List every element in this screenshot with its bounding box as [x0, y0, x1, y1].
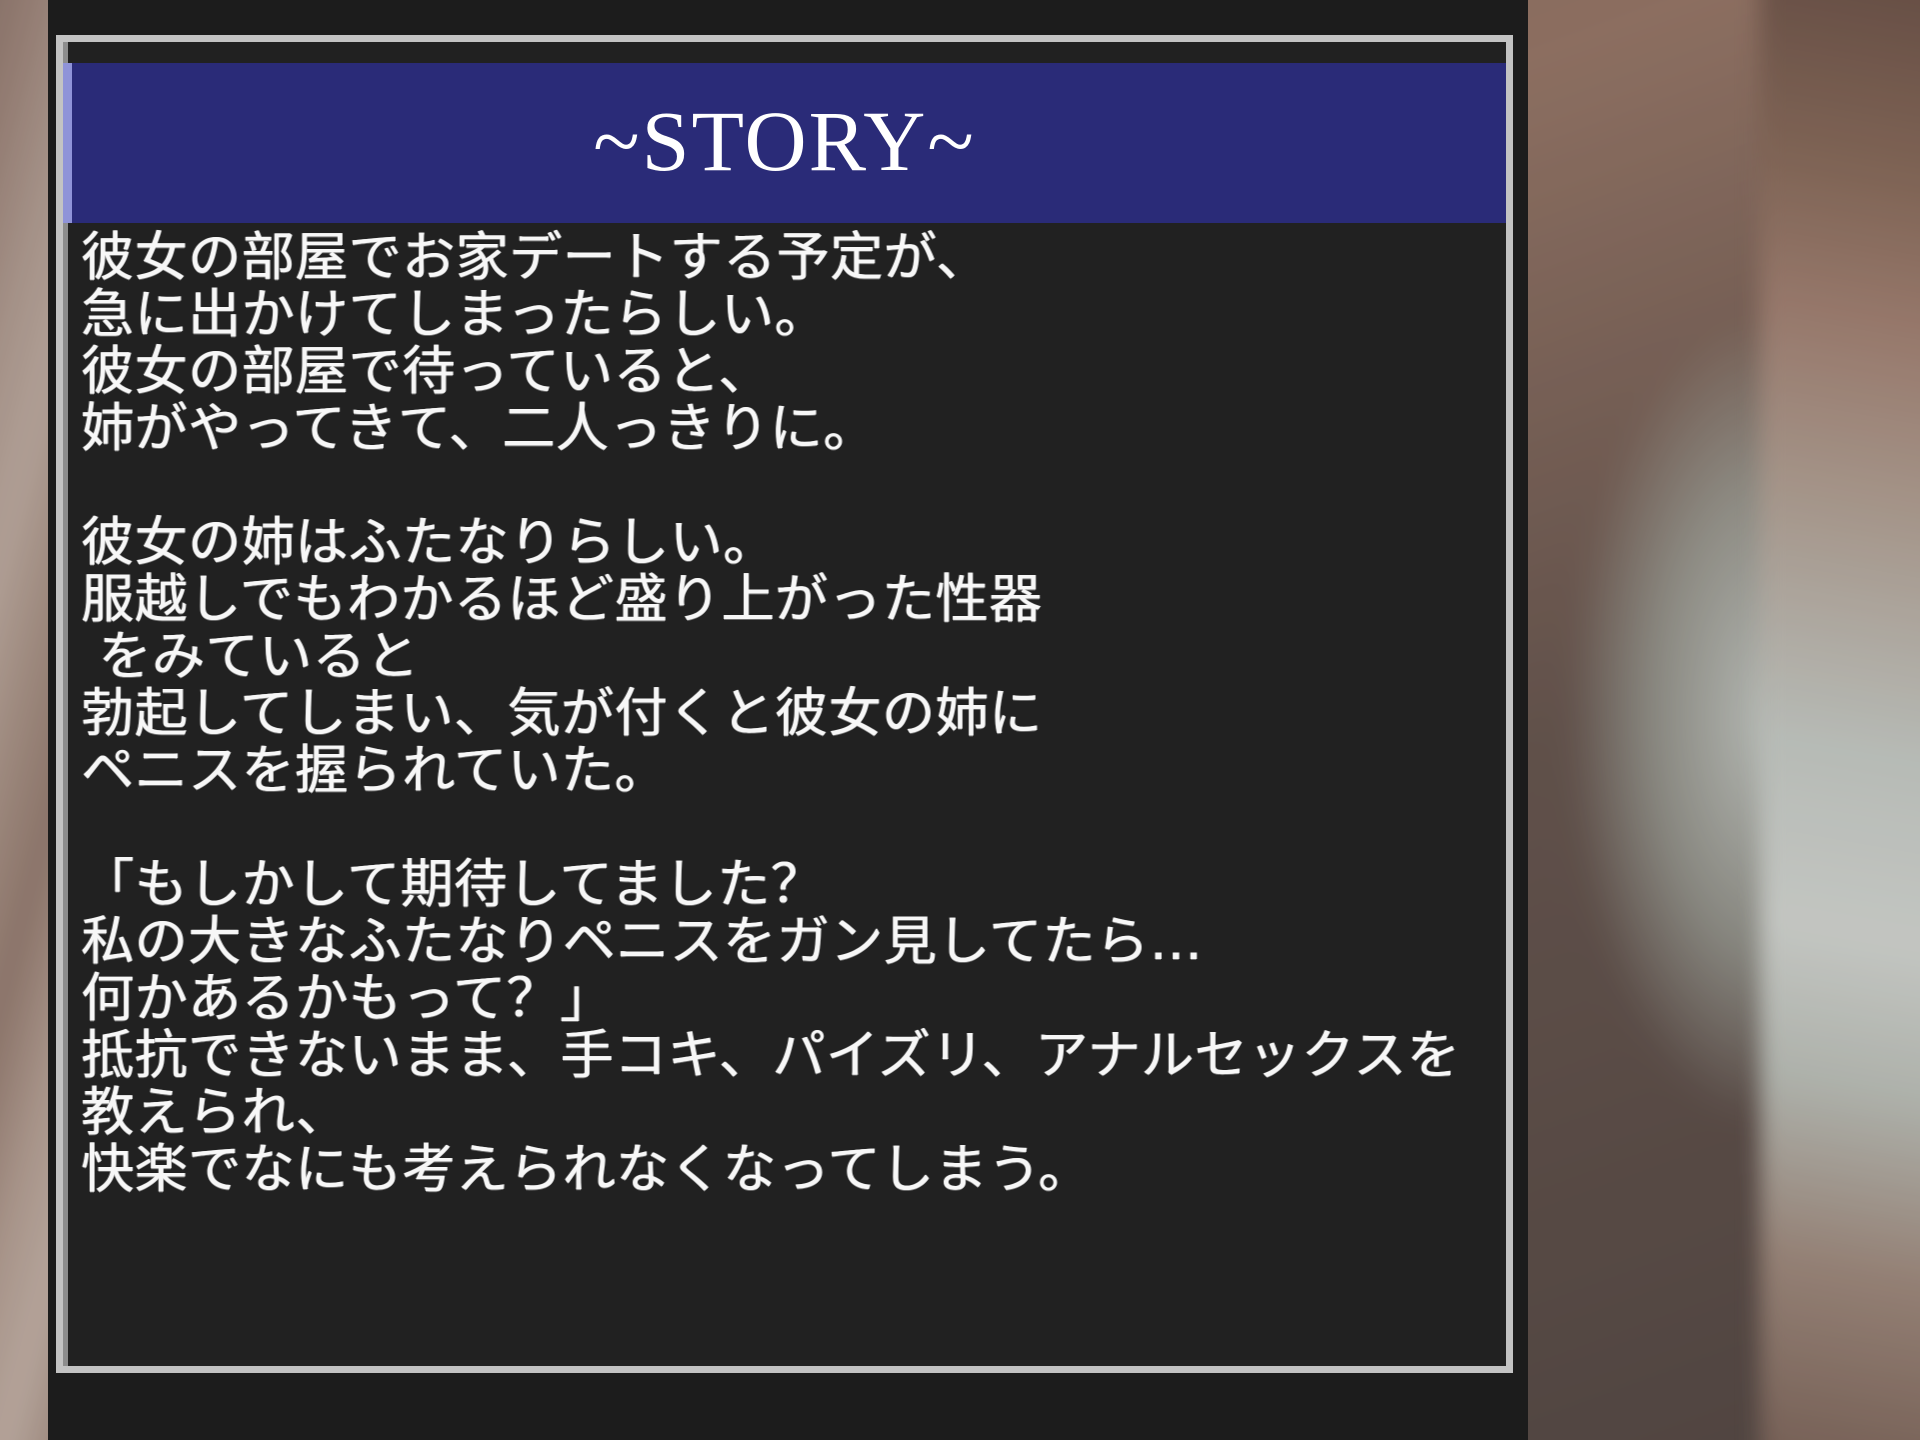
story-line-blank — [81, 457, 1488, 514]
story-line: 教えられ、 — [81, 1084, 1488, 1141]
story-line: 「もしかして期待してました？ — [81, 856, 1488, 913]
story-line: 姉がやってきて、二人っきりに。 — [81, 400, 1488, 457]
story-line: 彼女の部屋でお家デートする予定が、 — [81, 229, 1488, 286]
story-line: 抵抗できないまま、手コキ、パイズリ、アナルセックスを — [81, 1027, 1488, 1084]
story-line: 快楽でなにも考えられなくなってしまう。 — [81, 1141, 1488, 1198]
story-line: 何かあるかもって？」 — [81, 970, 1488, 1027]
story-line: 急に出かけてしまったらしい。 — [81, 286, 1488, 343]
story-screen: ~STORY~ 彼女の部屋でお家デートする予定が、 急に出かけてしまったらしい。… — [0, 0, 1920, 1440]
story-title-banner: ~STORY~ — [63, 63, 1506, 223]
banner-left-edge — [63, 63, 72, 223]
story-line: 彼女の部屋で待っていると、 — [81, 343, 1488, 400]
story-line: 彼女の姉はふたなりらしい。 — [81, 514, 1488, 571]
page-title: ~STORY~ — [593, 98, 976, 184]
story-text-block: 彼女の部屋でお家デートする予定が、 急に出かけてしまったらしい。 彼女の部屋で待… — [63, 223, 1506, 1198]
story-line: ペニスを握られていた。 — [81, 742, 1488, 799]
story-line: 服越しでもわかるほど盛り上がった性器 — [81, 571, 1488, 628]
story-line-blank — [81, 799, 1488, 856]
panel-rail-top — [63, 42, 68, 63]
story-card-frame: ~STORY~ 彼女の部屋でお家デートする予定が、 急に出かけてしまったらしい。… — [56, 35, 1513, 1373]
story-line: 勃起してしまい、気が付くと彼女の姉に — [81, 685, 1488, 742]
story-line: をみていると — [81, 628, 1488, 685]
story-card-panel: ~STORY~ 彼女の部屋でお家デートする予定が、 急に出かけてしまったらしい。… — [63, 42, 1506, 1366]
story-line: 私の大きなふたなりペニスをガン見してたら… — [81, 913, 1488, 970]
